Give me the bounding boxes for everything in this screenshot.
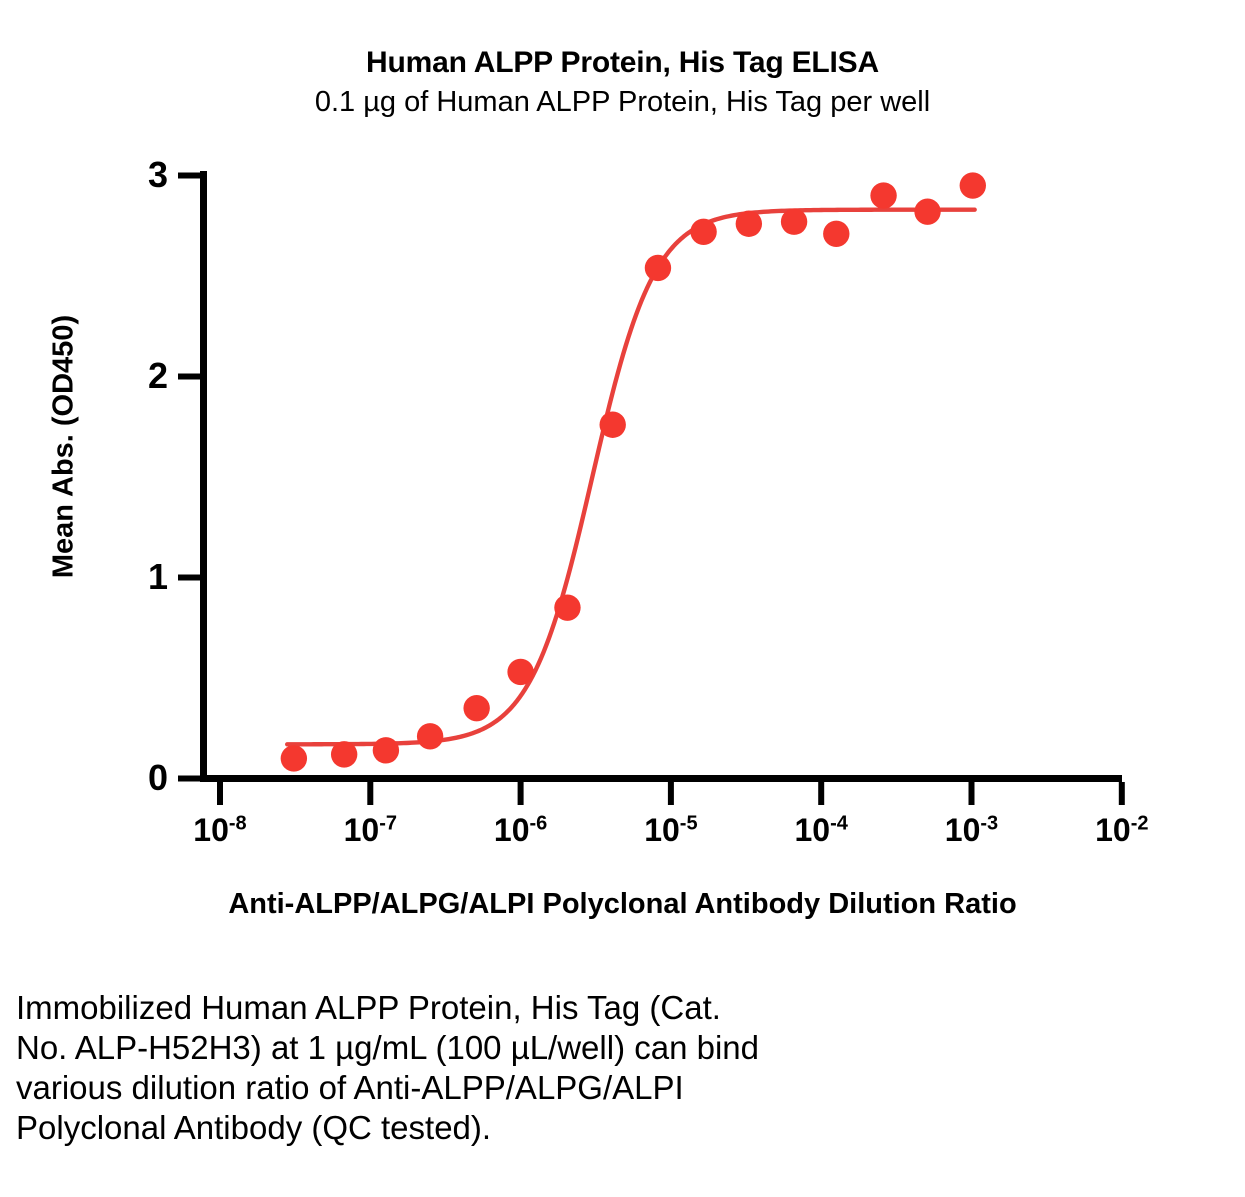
data-point: [281, 745, 307, 771]
sigmoid-fit-curve: [287, 210, 974, 745]
data-point: [870, 182, 896, 208]
data-point-group: [281, 172, 986, 771]
x-tick-label: 10-5: [611, 814, 731, 846]
x-tick-marks: [220, 782, 1122, 805]
figure-caption: Immobilized Human ALPP Protein, His Tag …: [16, 988, 1076, 1148]
data-point: [507, 659, 533, 685]
data-point: [736, 211, 762, 237]
x-tick-label: 10-6: [461, 814, 581, 846]
caption-line: Immobilized Human ALPP Protein, His Tag …: [16, 988, 1076, 1028]
y-tick-label: 0: [124, 760, 168, 796]
x-axis-title: Anti-ALPP/ALPG/ALPI Polyclonal Antibody …: [0, 888, 1245, 921]
caption-line: Polyclonal Antibody (QC tested).: [16, 1108, 1076, 1148]
x-tick-label: 10-4: [761, 814, 881, 846]
x-tick-label: 10-2: [1062, 814, 1182, 846]
data-point: [600, 412, 626, 438]
caption-line: No. ALP-H52H3) at 1 µg/mL (100 µL/well) …: [16, 1028, 1076, 1068]
data-point: [960, 172, 986, 198]
data-point: [373, 737, 399, 763]
x-tick-label: 10-7: [310, 814, 430, 846]
data-point: [463, 695, 489, 721]
data-point: [823, 221, 849, 247]
y-axis-title: Mean Abs. (OD450): [48, 267, 81, 627]
y-tick-label: 1: [124, 559, 168, 595]
x-tick-label: 10-3: [912, 814, 1032, 846]
data-point: [554, 594, 580, 620]
elisa-figure: Human ALPP Protein, His Tag ELISA 0.1 µg…: [0, 0, 1245, 1197]
x-tick-label: 10-8: [160, 814, 280, 846]
y-tick-label: 3: [124, 157, 168, 193]
data-point: [781, 209, 807, 235]
y-tick-marks: [178, 176, 200, 779]
data-point: [914, 198, 940, 224]
y-tick-label: 2: [124, 358, 168, 394]
data-point: [331, 741, 357, 767]
data-point: [417, 723, 443, 749]
caption-line: various dilution ratio of Anti-ALPP/ALPG…: [16, 1068, 1076, 1108]
data-point: [690, 219, 716, 245]
data-point: [645, 255, 671, 281]
